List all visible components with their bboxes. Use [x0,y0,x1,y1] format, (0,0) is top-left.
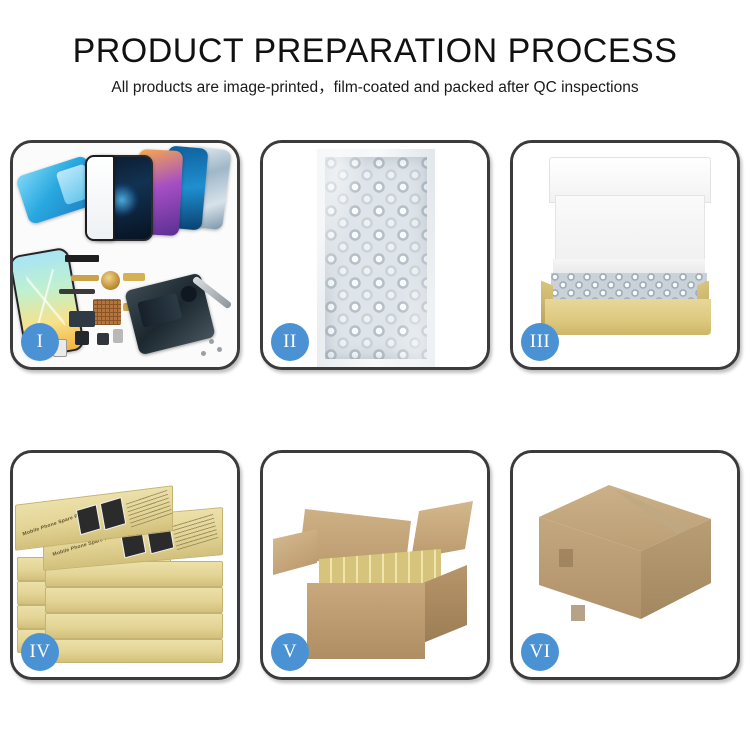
step-badge-6: VI [521,633,559,671]
step-badge-5: V [271,633,309,671]
carton-mark-1-icon [559,549,573,567]
step-panel-3: III [510,140,740,370]
box-front-panel-icon [545,299,711,335]
ribbon-cable-icon [59,289,95,294]
speaker-coil-icon [101,271,120,290]
step-panel-4: Mobile Phone Spare Parts Mobile Phone Sp… [10,450,240,680]
flex-cable-2-icon [123,273,145,281]
earpiece-mesh-icon [65,255,99,262]
box-spec-lines-left [126,489,172,528]
step-badge-1: I [21,323,59,361]
box-spec-lines-right [172,513,218,550]
small-part-2-icon [97,333,109,345]
battery-connector-icon [113,329,123,343]
component-block-icon [69,311,95,327]
step-badge-4: IV [21,633,59,671]
page-subtitle: All products are image-printed，film-coat… [0,80,750,96]
phone-white-icon [85,155,115,241]
stacked-box-bottom-right [45,639,223,663]
page-header: PRODUCT PREPARATION PROCESS All products… [0,0,750,96]
screw-2-icon [217,347,222,352]
carton-flap-left-icon [273,529,317,575]
process-step-grid: I II III [10,140,740,680]
step-panel-5: V [260,450,490,680]
stacked-box-3-right [45,587,223,613]
box-thumbnail-4 [100,497,127,530]
chip-grid-icon [93,299,121,325]
box-thumbnail-3 [76,504,101,535]
small-part-1-icon [75,331,89,345]
screw-1-icon [209,339,214,344]
carton-mark-2-icon [571,605,585,621]
step-panel-6: VI [510,450,740,680]
step-badge-3: III [521,323,559,361]
plastic-gloss-icon [317,149,435,367]
step-panel-1: I [10,140,240,370]
page-title: PRODUCT PREPARATION PROCESS [0,34,750,68]
stacked-box-4-right [45,613,223,639]
step-panel-2: II [260,140,490,370]
flex-cable-1-icon [71,275,99,281]
step-badge-2: II [271,323,309,361]
screw-3-icon [201,351,206,356]
carton-front-icon [307,583,425,659]
